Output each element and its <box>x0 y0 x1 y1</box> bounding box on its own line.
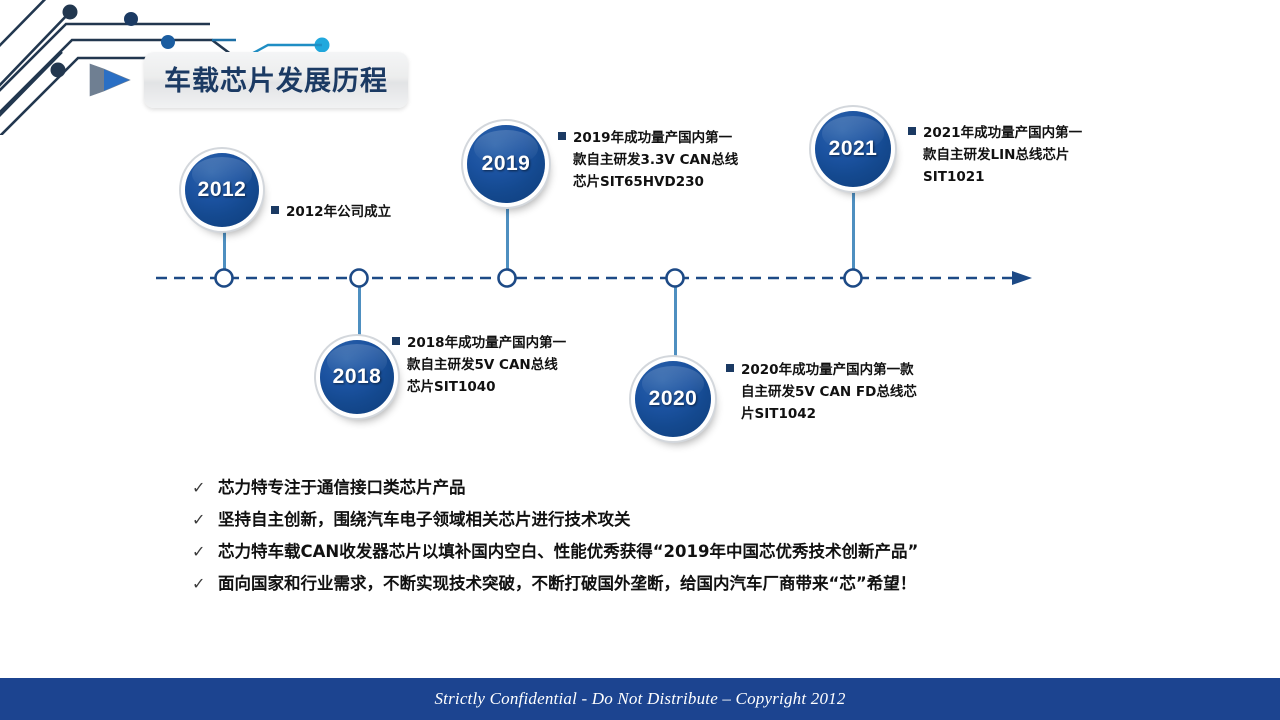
milestone-year-2020: 2020 <box>649 387 698 411</box>
check-icon: ✓ <box>192 478 218 499</box>
milestone-year-2021: 2021 <box>829 137 878 161</box>
timeline-node-2019 <box>499 270 516 287</box>
milestone-bubble-2020[interactable]: 2020 <box>635 361 711 437</box>
list-item: ✓ 芯力特车载CAN收发器芯片以填补国内空白、性能优秀获得“2019年中国芯优秀… <box>192 542 1192 563</box>
list-item-label: 芯力特车载CAN收发器芯片以填补国内空白、性能优秀获得“2019年中国芯优秀技术… <box>218 542 918 563</box>
footer-confidential-text: Strictly Confidential - Do Not Distribut… <box>434 689 845 709</box>
callout-line: 款自主研发LIN总线芯片 <box>908 145 1136 167</box>
list-item-label: 面向国家和行业需求，不断实现技术突破，不断打破国外垄断，给国内汽车厂商带来“芯”… <box>218 574 916 595</box>
milestone-bubble-2018[interactable]: 2018 <box>320 340 394 414</box>
list-item-label: 坚持自主创新，围绕汽车电子领域相关芯片进行技术攻关 <box>218 510 631 531</box>
list-item: ✓ 坚持自主创新，围绕汽车电子领域相关芯片进行技术攻关 <box>192 510 1192 531</box>
milestone-bubble-2021[interactable]: 2021 <box>815 111 891 187</box>
callout-line: 2018年成功量产国内第一 <box>407 335 566 351</box>
milestone-callout-2019: 2019年成功量产国内第一 款自主研发3.3V CAN总线 芯片SIT65HVD… <box>558 128 788 194</box>
callout-line: 芯片SIT1040 <box>392 377 617 399</box>
callout-line: 款自主研发5V CAN总线 <box>392 355 617 377</box>
callout-line: 自主研发5V CAN FD总线芯 <box>726 382 961 404</box>
callout-line: 2020年成功量产国内第一款 <box>741 362 914 378</box>
milestone-callout-2012: 2012年公司成立 <box>271 202 481 224</box>
summary-checklist: ✓ 芯力特专注于通信接口类芯片产品 ✓ 坚持自主创新，围绕汽车电子领域相关芯片进… <box>192 478 1192 606</box>
callout-line: 片SIT1042 <box>726 404 961 426</box>
timeline-node-2020 <box>667 270 684 287</box>
bullet-square-icon <box>908 127 916 135</box>
milestone-bubble-2012[interactable]: 2012 <box>185 153 259 227</box>
milestone-year-2019: 2019 <box>482 152 531 176</box>
timeline-nodes <box>150 262 1040 296</box>
list-item: ✓ 面向国家和行业需求，不断实现技术突破，不断打破国外垄断，给国内汽车厂商带来“… <box>192 574 1192 595</box>
callout-line: 芯片SIT65HVD230 <box>558 172 788 194</box>
list-item-label: 芯力特专注于通信接口类芯片产品 <box>218 478 466 499</box>
slide-canvas: 车载芯片发展历程 2012 20 <box>0 0 1280 720</box>
milestone-bubble-2019[interactable]: 2019 <box>467 125 545 203</box>
check-icon: ✓ <box>192 542 218 563</box>
callout-line: SIT1021 <box>908 167 1136 189</box>
bullet-square-icon <box>726 364 734 372</box>
callout-line: 款自主研发3.3V CAN总线 <box>558 150 788 172</box>
bullet-square-icon <box>392 337 400 345</box>
callout-line: 2012年公司成立 <box>286 204 391 220</box>
callout-line: 2021年成功量产国内第一 <box>923 125 1082 141</box>
timeline-node-2021 <box>845 270 862 287</box>
timeline-node-2012 <box>216 270 233 287</box>
callout-line: 2019年成功量产国内第一 <box>573 130 732 146</box>
bullet-square-icon <box>558 132 566 140</box>
milestone-callout-2020: 2020年成功量产国内第一款 自主研发5V CAN FD总线芯 片SIT1042 <box>726 360 961 426</box>
milestone-year-2012: 2012 <box>198 178 247 202</box>
timeline-node-2018 <box>351 270 368 287</box>
footer-bar: Strictly Confidential - Do Not Distribut… <box>0 678 1280 720</box>
timeline: 2012 2012年公司成立 2018 2018年成功量产国内第一 款自主研发5… <box>0 0 1280 470</box>
check-icon: ✓ <box>192 574 218 595</box>
milestone-callout-2018: 2018年成功量产国内第一 款自主研发5V CAN总线 芯片SIT1040 <box>392 333 617 399</box>
check-icon: ✓ <box>192 510 218 531</box>
list-item: ✓ 芯力特专注于通信接口类芯片产品 <box>192 478 1192 499</box>
milestone-callout-2021: 2021年成功量产国内第一 款自主研发LIN总线芯片 SIT1021 <box>908 123 1136 189</box>
milestone-year-2018: 2018 <box>333 365 382 389</box>
bullet-square-icon <box>271 206 279 214</box>
